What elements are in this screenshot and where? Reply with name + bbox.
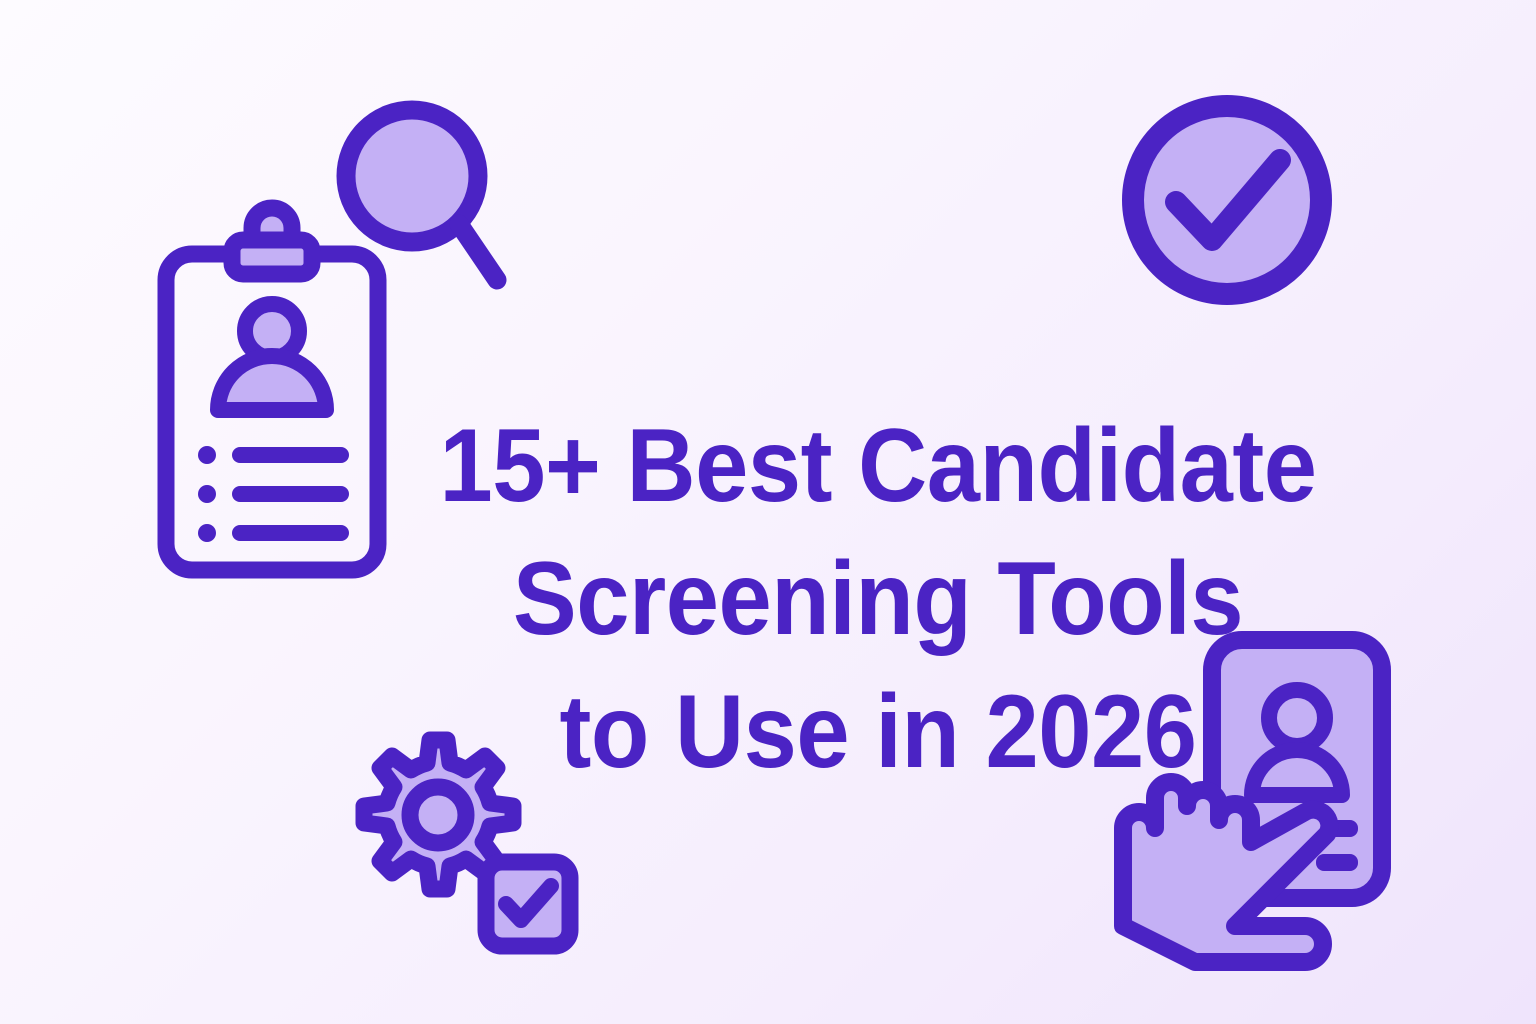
hand-pointing-icon <box>1123 782 1329 962</box>
check-circle-icon <box>1133 106 1321 294</box>
checkbox-checked-icon <box>486 862 570 946</box>
headline-line-2: Screening Tools <box>436 533 1319 666</box>
headline-line-1: 15+ Best Candidate <box>436 400 1319 533</box>
magnifying-glass-icon <box>346 110 497 280</box>
hero-banner: .dk { fill: none; stroke: #4B23C4; strok… <box>0 0 1536 1024</box>
clipboard-candidate-icon <box>166 208 378 570</box>
page-title: 15+ Best Candidate Screening Tools to Us… <box>436 400 1319 799</box>
headline-line-3: to Use in 2026 <box>436 666 1319 799</box>
